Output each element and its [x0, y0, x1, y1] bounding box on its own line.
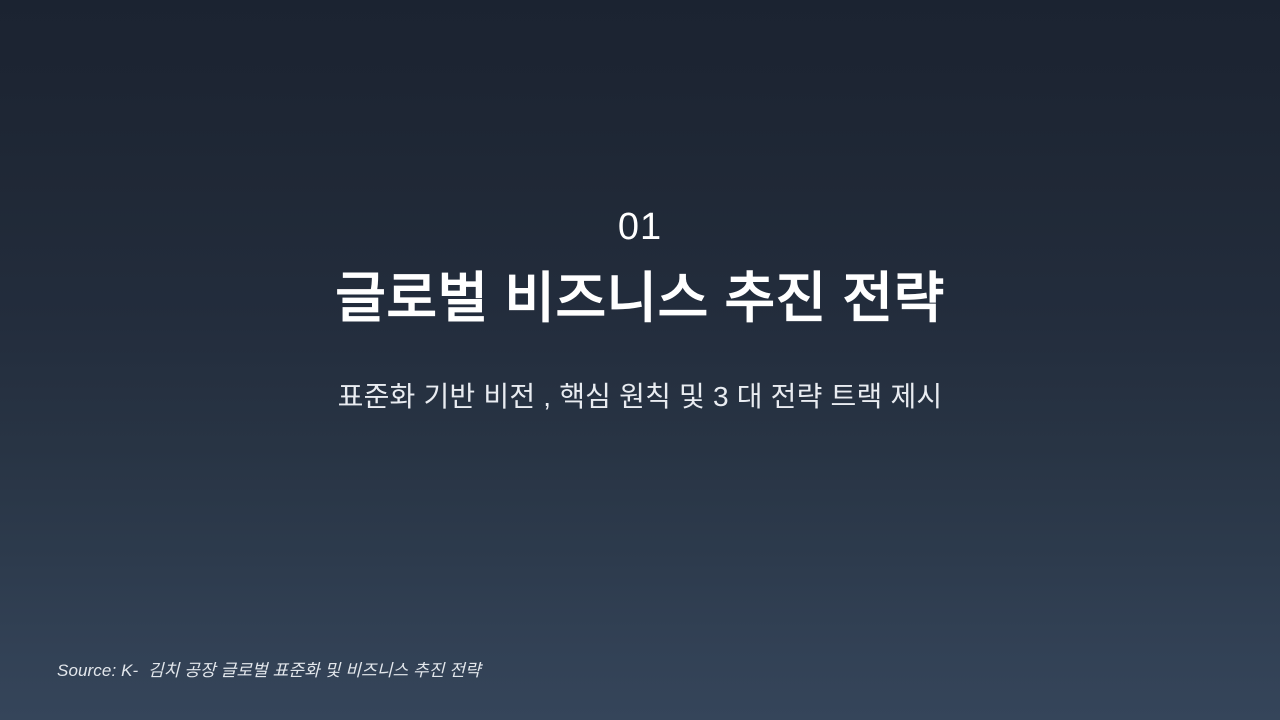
section-divider-slide: 01 글로벌 비즈니스 추진 전략 표준화 기반 비전 , 핵심 원칙 및 3 …: [0, 0, 1280, 720]
slide-subtitle: 표준화 기반 비전 , 핵심 원칙 및 3 대 전략 트랙 제시: [338, 378, 943, 416]
page-title: 글로벌 비즈니스 추진 전략: [335, 266, 944, 331]
source-document-title: 김치 공장 글로벌 표준화 및 비즈니스 추진 전략: [148, 661, 481, 680]
source-label: Source: K-: [57, 661, 138, 680]
slide-headline-group: 01 글로벌 비즈니스 추진 전략 표준화 기반 비전 , 핵심 원칙 및 3 …: [0, 206, 1280, 415]
section-number: 01: [618, 206, 662, 250]
source-note: Source: K- 김치 공장 글로벌 표준화 및 비즈니스 추진 전략: [57, 660, 481, 682]
